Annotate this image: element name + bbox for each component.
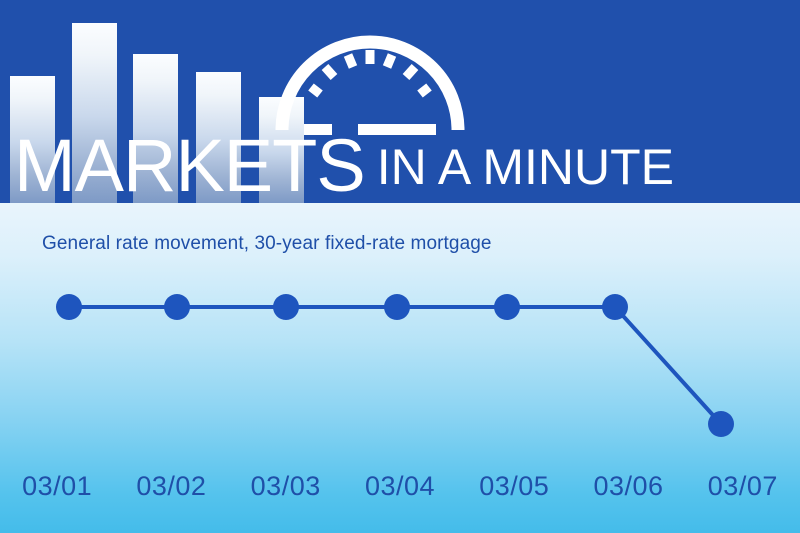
- x-tick-4: 03/05: [457, 471, 571, 502]
- data-point-marker: [384, 294, 410, 320]
- data-point-marker: [56, 294, 82, 320]
- data-point-marker: [273, 294, 299, 320]
- x-axis-tick-labels: 03/01 03/02 03/03 03/04 03/05 03/06 03/0…: [0, 462, 800, 510]
- header-banner: MARKETS IN A MINUTE: [0, 0, 800, 203]
- chart-line-series: [69, 307, 721, 424]
- page-title: MARKETS: [14, 133, 365, 198]
- header-title-row: MARKETS IN A MINUTE: [14, 118, 800, 198]
- page-subtitle: IN A MINUTE: [377, 137, 674, 198]
- x-tick-2: 03/03: [229, 471, 343, 502]
- x-tick-1: 03/02: [114, 471, 228, 502]
- data-point-marker: [164, 294, 190, 320]
- markets-in-a-minute-graphic: MARKETS IN A MINUTE General rate movemen…: [0, 0, 800, 533]
- x-tick-5: 03/06: [571, 471, 685, 502]
- data-point-marker: [708, 411, 734, 437]
- data-point-marker: [602, 294, 628, 320]
- x-tick-3: 03/04: [343, 471, 457, 502]
- chart-markers-group: [56, 294, 734, 437]
- x-tick-0: 03/01: [0, 471, 114, 502]
- x-tick-6: 03/07: [686, 471, 800, 502]
- series-line: [69, 307, 721, 424]
- data-point-marker: [494, 294, 520, 320]
